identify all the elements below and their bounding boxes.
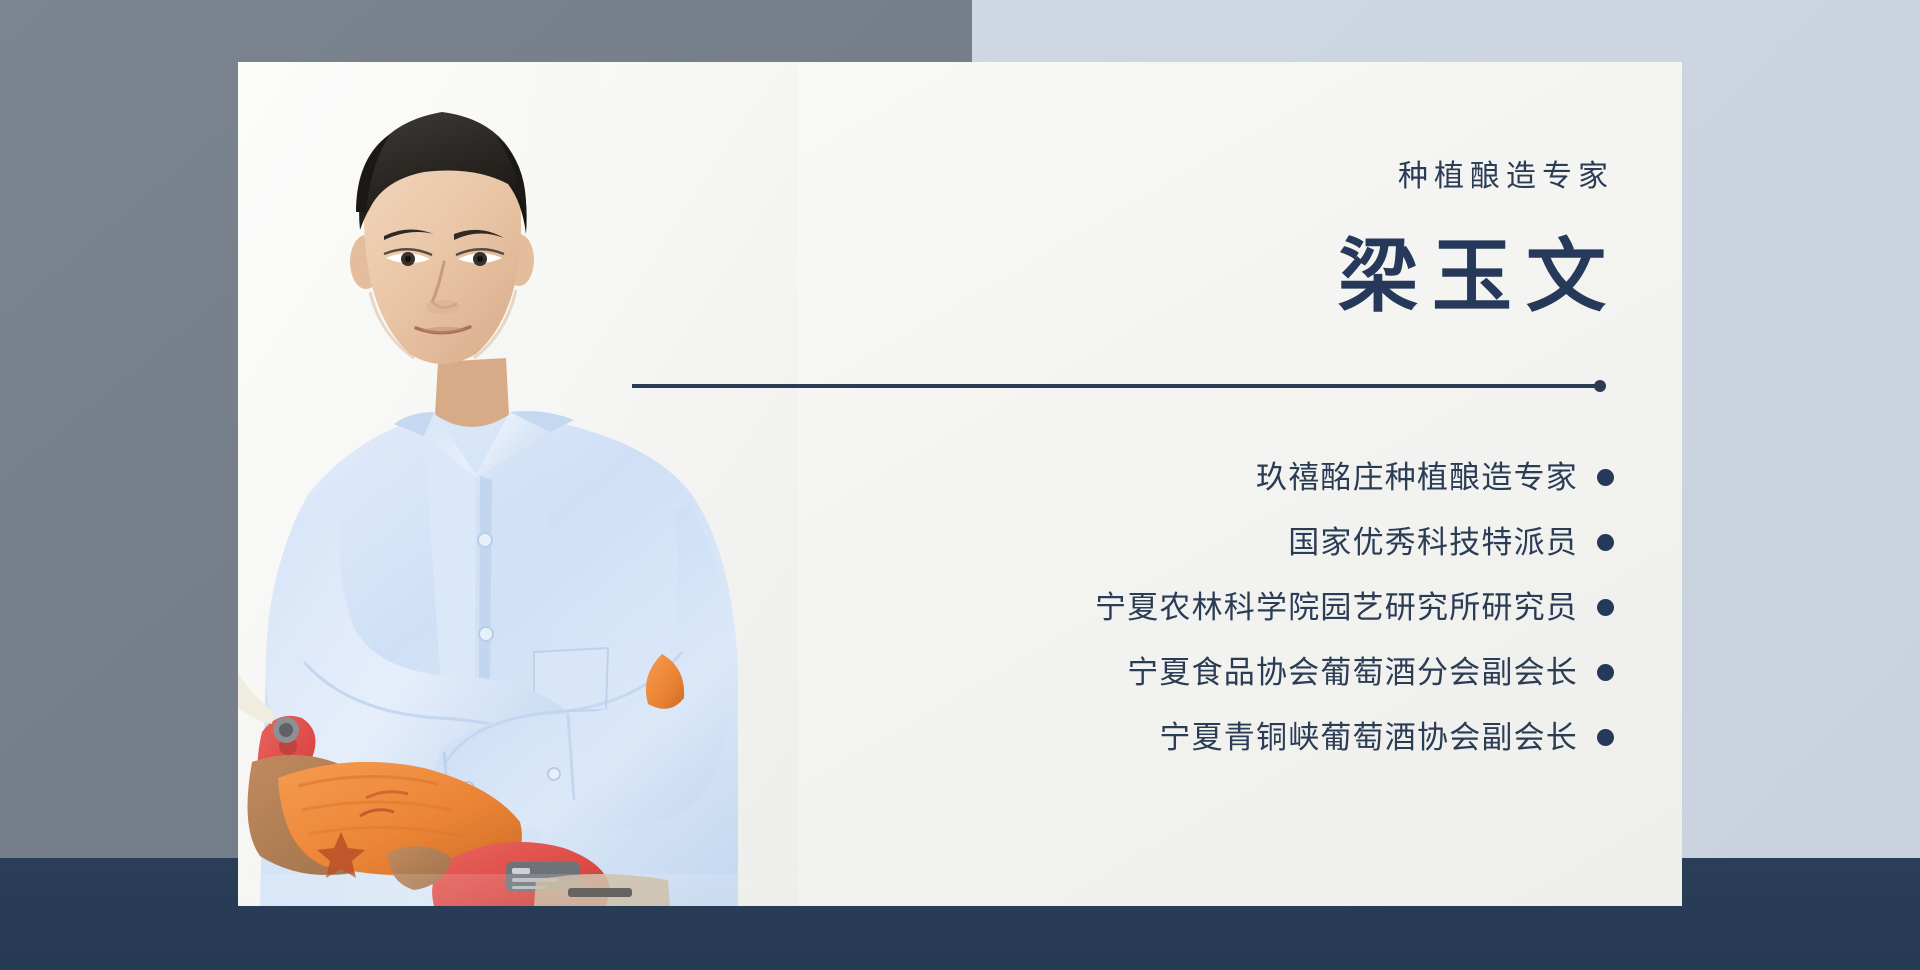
bullet-dot-icon [1597,599,1614,616]
divider-end-dot [1594,380,1606,392]
bullet-dot-icon [1597,664,1614,681]
profile-eyebrow: 种植酿造专家 [1398,162,1614,192]
bullet-dot-icon [1597,729,1614,746]
page-title: 梁玉文 [1338,238,1620,318]
portrait-illustration [238,62,798,906]
credential-label: 宁夏食品协会葡萄酒分会副会长 [1127,657,1578,688]
portrait-photo [238,62,798,906]
banner-stage: 种植酿造专家 梁玉文 玖禧酩庄种植酿造专家 国家优秀科技特派员 宁夏农林科学院园… [0,0,1920,970]
credential-label: 宁夏农林科学院园艺研究所研究员 [1095,592,1578,623]
credential-label: 宁夏青铜峡葡萄酒协会副会长 [1159,722,1578,753]
credential-label: 国家优秀科技特派员 [1288,527,1578,558]
credential-label: 玖禧酩庄种植酿造专家 [1256,462,1578,493]
bullet-dot-icon [1597,469,1614,486]
profile-card: 种植酿造专家 梁玉文 玖禧酩庄种植酿造专家 国家优秀科技特派员 宁夏农林科学院园… [238,62,1682,906]
bullet-dot-icon [1597,534,1614,551]
